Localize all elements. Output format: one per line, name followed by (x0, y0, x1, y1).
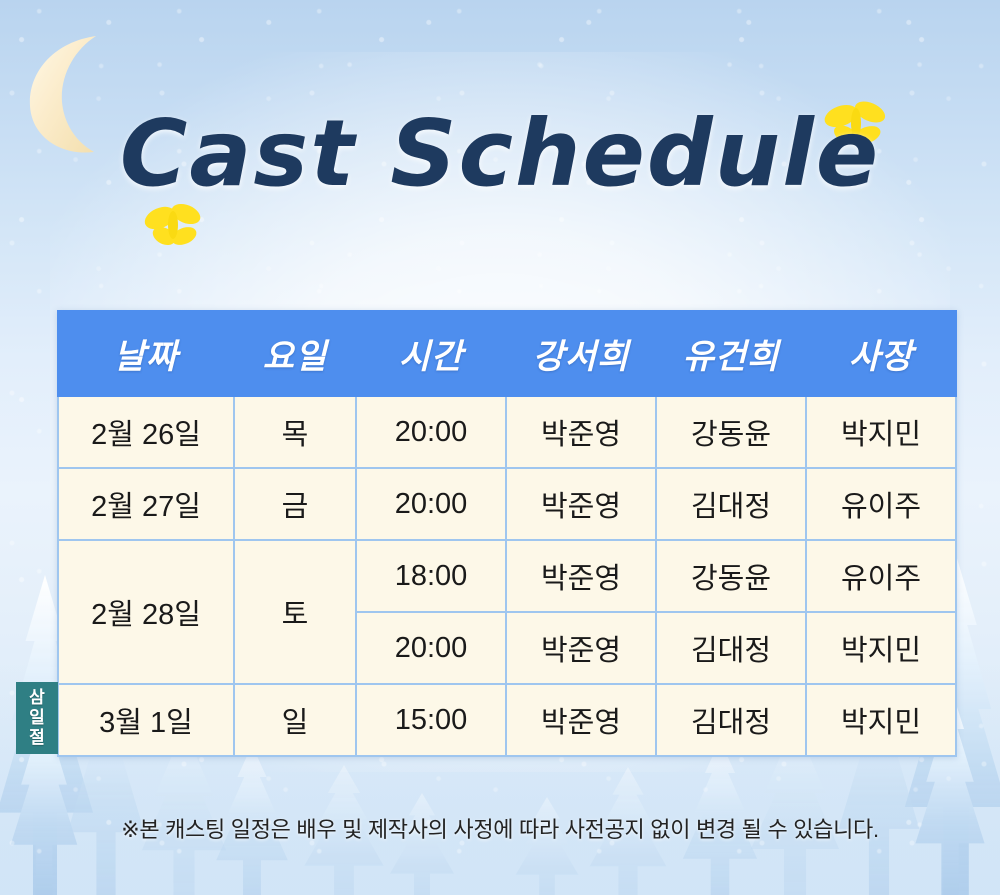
cell-date: 3월 1일 (58, 684, 234, 756)
cell-cast: 김대정 (656, 612, 806, 684)
column-header-role-3: 사장 (806, 311, 956, 396)
cell-cast: 박지민 (806, 612, 956, 684)
cell-date: 2월 28일 (58, 540, 234, 684)
holiday-label-tab: 삼 일 절 (16, 682, 58, 754)
cell-cast: 강동윤 (656, 396, 806, 468)
cell-cast: 박지민 (806, 684, 956, 756)
table-row: 2월 27일 금 20:00 박준영 김대정 유이주 (58, 468, 956, 540)
page-title: Cast Schedule (0, 108, 1000, 200)
table-row: 2월 28일 토 18:00 박준영 강동윤 유이주 (58, 540, 956, 612)
cell-cast: 박준영 (506, 684, 656, 756)
cell-cast: 유이주 (806, 540, 956, 612)
cell-day: 토 (234, 540, 356, 684)
cell-cast: 박준영 (506, 468, 656, 540)
holiday-char: 삼 (29, 688, 45, 708)
cast-schedule-poster: Cast Schedule 날짜 요일 시간 강서희 유건희 사장 (0, 0, 1000, 895)
cell-cast: 박준영 (506, 612, 656, 684)
disclaimer-note: ※본 캐스팅 일정은 배우 및 제작사의 사정에 따라 사전공지 없이 변경 될… (0, 812, 1000, 844)
cell-day: 금 (234, 468, 356, 540)
column-header-day: 요일 (234, 311, 356, 396)
column-header-role-1: 강서희 (506, 311, 656, 396)
cell-time: 18:00 (356, 540, 506, 612)
cell-day: 일 (234, 684, 356, 756)
cell-cast: 박지민 (806, 396, 956, 468)
holiday-char: 일 (29, 708, 45, 728)
table-header-row: 날짜 요일 시간 강서희 유건희 사장 (58, 311, 956, 396)
schedule-table-container: 날짜 요일 시간 강서희 유건희 사장 2월 26일 목 20:00 박준영 강… (57, 310, 955, 757)
schedule-table: 날짜 요일 시간 강서희 유건희 사장 2월 26일 목 20:00 박준영 강… (57, 310, 957, 757)
cell-cast: 박준영 (506, 396, 656, 468)
cell-cast: 김대정 (656, 684, 806, 756)
cell-date: 2월 27일 (58, 468, 234, 540)
cell-cast: 박준영 (506, 540, 656, 612)
column-header-role-2: 유건희 (656, 311, 806, 396)
table-row: 2월 26일 목 20:00 박준영 강동윤 박지민 (58, 396, 956, 468)
cell-date: 2월 26일 (58, 396, 234, 468)
cell-time: 20:00 (356, 468, 506, 540)
cell-day: 목 (234, 396, 356, 468)
table-row: 3월 1일 일 15:00 박준영 김대정 박지민 (58, 684, 956, 756)
column-header-time: 시간 (356, 311, 506, 396)
cell-time: 20:00 (356, 396, 506, 468)
holiday-char: 절 (29, 728, 45, 748)
cell-time: 20:00 (356, 612, 506, 684)
cell-time: 15:00 (356, 684, 506, 756)
column-header-date: 날짜 (58, 311, 234, 396)
cell-cast: 김대정 (656, 468, 806, 540)
pine-tree-icon (372, 793, 472, 895)
cell-cast: 강동윤 (656, 540, 806, 612)
cell-cast: 유이주 (806, 468, 956, 540)
